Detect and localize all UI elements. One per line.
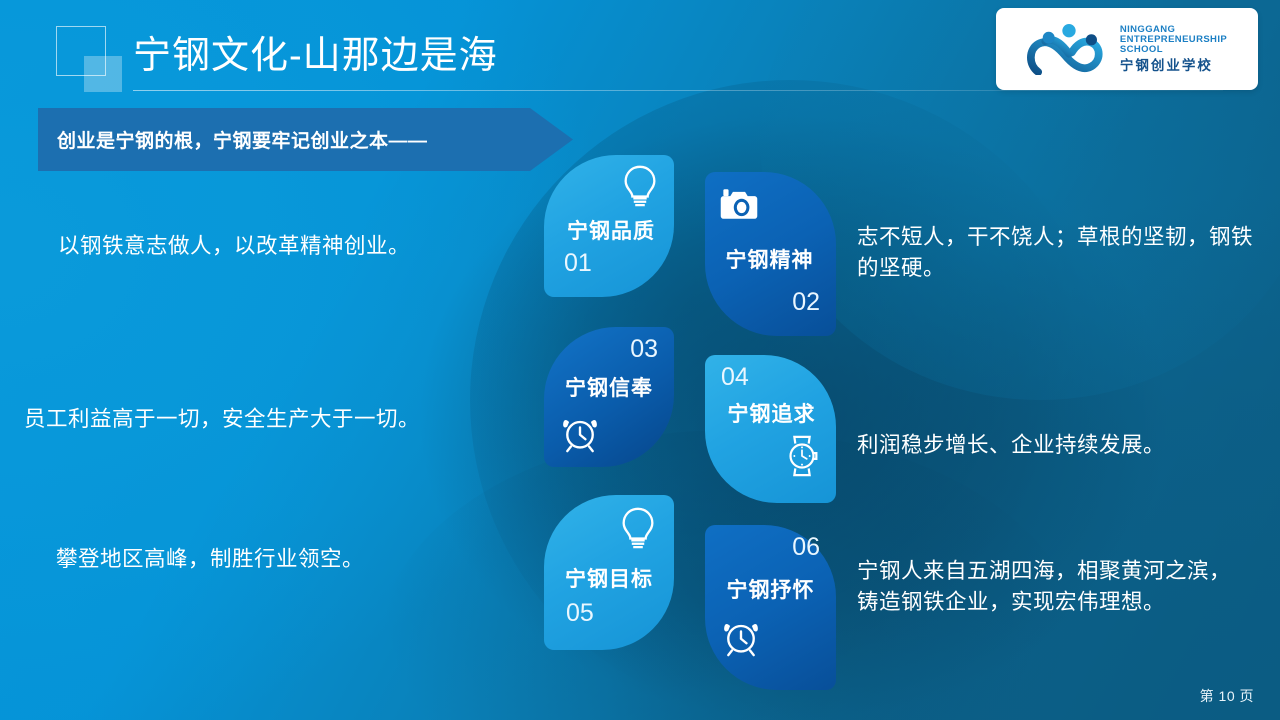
ninggang-logo-icon (1027, 23, 1111, 75)
petal-card-number: 01 (564, 251, 592, 276)
petal-card-number: 03 (630, 337, 658, 362)
subtitle-banner: 创业是宁钢的根，宁钢要牢记创业之本—— (38, 108, 573, 171)
lightbulb-icon (618, 505, 658, 549)
petal-card-01[interactable]: 宁钢品质 01 (544, 155, 674, 297)
petal-card-title: 宁钢追求 (728, 398, 816, 428)
logo-wordmark: NINGGANG ENTREPRENEURSHIP SCHOOL 宁钢创业学校 (1120, 25, 1227, 73)
title-divider (133, 90, 1223, 91)
slide-canvas: 宁钢文化-山那边是海 NINGGANG ENTREPRENEURSHIP (0, 0, 1280, 720)
petal-card-number: 05 (566, 601, 594, 626)
square-filled-icon (84, 56, 122, 92)
logo-en-line3: SCHOOL (1120, 45, 1227, 55)
petal-card-04[interactable]: 04 宁钢追求 (705, 355, 836, 503)
subtitle-banner-text: 创业是宁钢的根，宁钢要牢记创业之本—— (57, 126, 428, 153)
culture-text-goal: 攀登地区高峰，制胜行业领空。 (56, 544, 526, 575)
petal-card-title: 宁钢精神 (726, 244, 814, 274)
wristwatch-icon (782, 434, 822, 478)
alarm-clock-icon (721, 614, 761, 658)
school-logo: NINGGANG ENTREPRENEURSHIP SCHOOL 宁钢创业学校 (996, 8, 1258, 90)
petal-card-number: 04 (721, 365, 749, 390)
lightbulb-icon (620, 163, 660, 207)
page-title: 宁钢文化-山那边是海 (133, 24, 498, 79)
petal-card-title: 宁钢目标 (565, 563, 653, 593)
petal-card-title: 宁钢信奉 (565, 372, 653, 402)
culture-text-belief: 员工利益高于一切，安全生产大于一切。 (24, 404, 536, 435)
petal-card-number: 02 (792, 290, 820, 315)
culture-text-quality: 以钢铁意志做人，以改革精神创业。 (58, 231, 528, 262)
petal-card-02[interactable]: 宁钢精神 02 (705, 172, 836, 336)
culture-text-pursuit: 利润稳步增长、企业持续发展。 (857, 430, 1257, 461)
petal-card-title: 宁钢品质 (567, 215, 655, 245)
culture-text-feelings: 宁钢人来自五湖四海，相聚黄河之滨，铸造钢铁企业，实现宏伟理想。 (857, 556, 1249, 617)
petal-card-number: 06 (792, 535, 820, 560)
page-number: 第 10 页 (1200, 686, 1254, 706)
petal-card-06[interactable]: 06 宁钢抒怀 (705, 525, 836, 690)
culture-text-spirit: 志不短人，干不饶人；草根的坚韧，钢铁的坚硬。 (857, 222, 1257, 283)
petal-card-03[interactable]: 03 宁钢信奉 (544, 327, 674, 467)
petal-card-title: 宁钢抒怀 (727, 574, 815, 604)
petal-card-05[interactable]: 宁钢目标 05 (544, 495, 674, 650)
logo-cn-name: 宁钢创业学校 (1120, 59, 1227, 74)
camera-icon (719, 182, 759, 226)
alarm-clock-icon (560, 410, 600, 454)
